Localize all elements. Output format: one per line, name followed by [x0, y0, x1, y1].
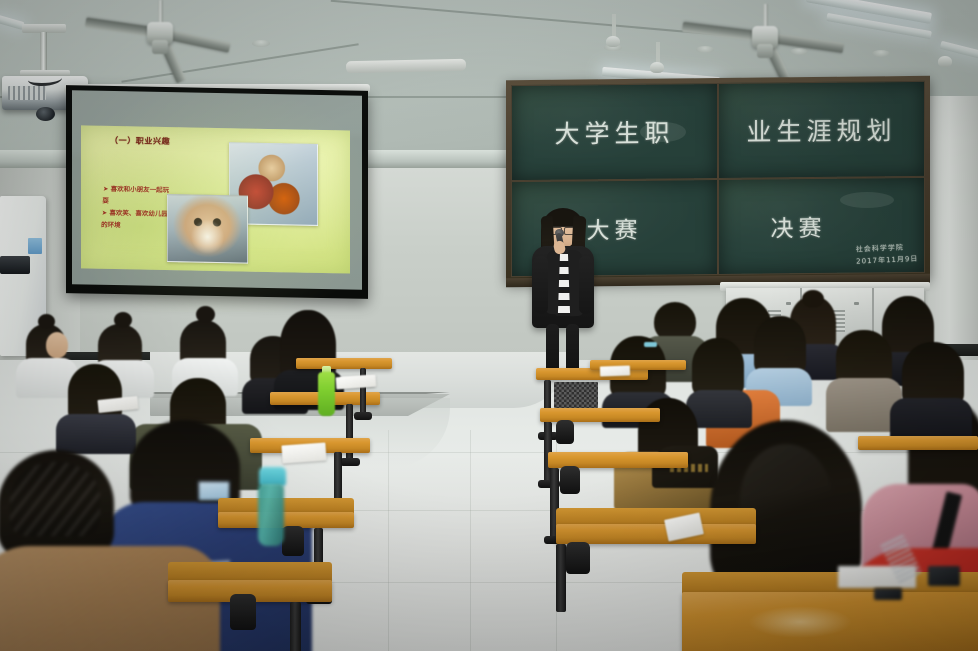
notebook-right[interactable]	[600, 365, 630, 376]
slide-title: （一）职业兴趣	[110, 134, 171, 146]
phone-on-desk[interactable]	[928, 566, 960, 586]
ceiling-fan-left	[100, 0, 220, 58]
desk-glare	[748, 606, 852, 638]
light-cap	[938, 56, 952, 67]
blackboard-pane-bottom-right: 决赛 社会科学学院 2017年11月9日	[718, 177, 925, 275]
presenter-leg-right	[566, 324, 579, 374]
desk-leg	[556, 544, 566, 612]
notebook-left[interactable]	[281, 442, 326, 463]
presenter-arm-left	[533, 256, 548, 314]
ceiling-fitting	[252, 40, 270, 47]
desk-foot	[354, 412, 372, 420]
desk-right-upper	[858, 436, 978, 486]
student-dark-right	[890, 342, 970, 434]
student-face	[46, 332, 68, 358]
projector-lens-icon	[36, 107, 55, 121]
chalk-signature: 社会科学学院 2017年11月9日	[855, 242, 918, 268]
fan-motor	[757, 44, 773, 58]
ac-display-panel	[28, 238, 42, 254]
student-presenter	[524, 208, 602, 380]
hair-bun	[802, 290, 824, 308]
seat-armrest-cap	[282, 526, 304, 556]
light-cap	[606, 36, 620, 47]
chalk-signature-date: 2017年11月9日	[856, 253, 919, 267]
presenter-leg-left	[546, 324, 559, 374]
chalk-text-line1-right: 业生涯规划	[746, 111, 896, 149]
hair-bun	[38, 314, 55, 329]
blackboard-pane-top-left: 大学生职	[511, 83, 718, 181]
hair-clip-icon	[644, 342, 657, 347]
ceiling-fitting	[872, 50, 890, 57]
desk-surface	[556, 524, 756, 544]
blackboard-pane-top-right: 业生涯规划	[718, 81, 925, 179]
ac-vent-grille	[0, 256, 30, 274]
seat-armrest-cap	[556, 420, 574, 444]
presentation-slide: （一）职业兴趣 ➤ 喜欢和小朋友一起玩 耍 ➤ 喜欢笑、喜欢幼儿园 的环境	[81, 125, 351, 274]
desk-backrest	[168, 562, 332, 582]
classroom-scene: （一）职业兴趣 ➤ 喜欢和小朋友一起玩 耍 ➤ 喜欢笑、喜欢幼儿园 的环境 大学…	[0, 0, 978, 651]
hair-braid-detail	[10, 462, 100, 536]
desk-leg	[290, 602, 301, 651]
fan-motor	[152, 40, 168, 54]
green-drink-bottle[interactable]	[318, 372, 335, 416]
desk-surface	[858, 436, 978, 450]
light-cap	[650, 62, 664, 73]
student-hair	[902, 342, 964, 406]
phone-on-desk-2[interactable]	[874, 588, 902, 600]
presenter-arm-right	[579, 256, 594, 314]
cabinet-knob[interactable]	[854, 302, 859, 305]
student-hair	[692, 338, 744, 396]
chalk-text-line2-right: 决赛	[771, 209, 827, 244]
teal-water-bottle[interactable]	[258, 484, 284, 546]
screen-roller-housing	[346, 59, 466, 74]
seat-armrest-cap	[230, 594, 256, 630]
seat-armrest-cap	[560, 466, 580, 494]
hair-bun	[114, 312, 132, 328]
chalk-text-line1-left: 大学生职	[554, 113, 674, 150]
projector-mount-pole	[40, 32, 47, 72]
desk-left-row1	[168, 562, 332, 651]
projector-vent	[8, 86, 46, 100]
ceiling-fan-right	[700, 4, 830, 64]
desk-surface	[296, 358, 392, 369]
projection-screen: （一）职业兴趣 ➤ 喜欢和小朋友一起玩 耍 ➤ 喜欢笑、喜欢幼儿园 的环境	[66, 85, 368, 299]
student-hair	[754, 316, 806, 374]
seat-armrest-cap	[566, 542, 590, 574]
hair-bun	[196, 306, 215, 323]
screen-surface: （一）职业兴趣 ➤ 喜欢和小朋友一起玩 耍 ➤ 喜欢笑、喜欢幼儿园 的环境	[72, 90, 362, 290]
slide-photo-selfie	[167, 194, 248, 263]
